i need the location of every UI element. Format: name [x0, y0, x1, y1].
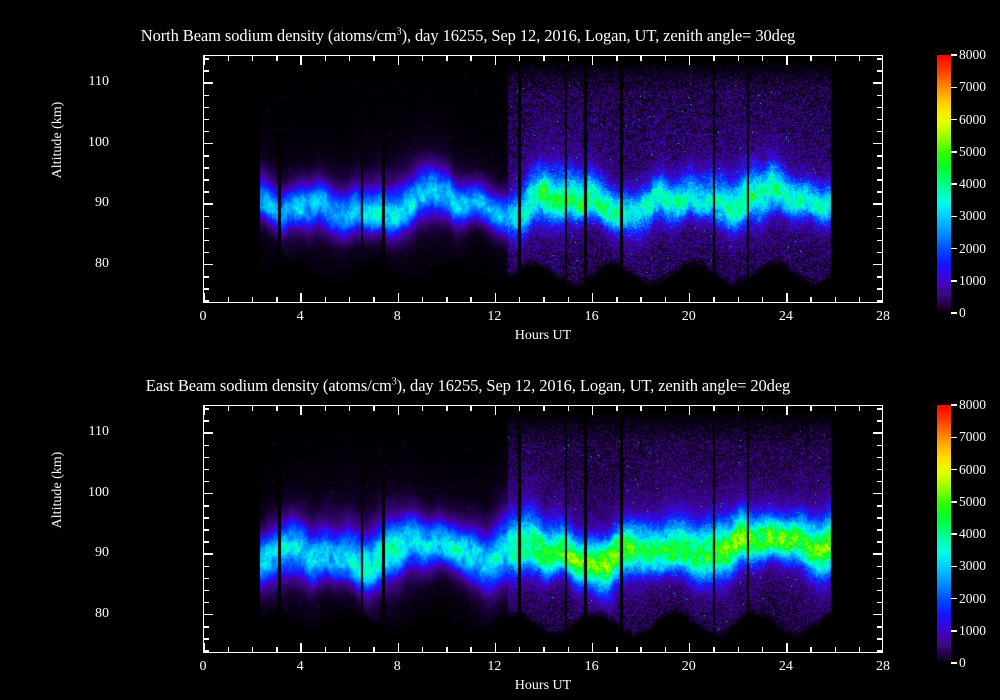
x-minor-tick: [762, 297, 764, 302]
x-minor-tick: [228, 647, 230, 652]
x-minor-tick: [713, 56, 715, 61]
colorbar-tick-label: 7000: [959, 429, 986, 445]
x-minor-tick: [762, 647, 764, 652]
x-minor-tick: [762, 56, 764, 61]
colorbar-tick: [951, 662, 957, 664]
x-major-tick: [398, 56, 400, 65]
x-minor-tick: [543, 406, 545, 411]
y-minor-tick: [877, 469, 882, 471]
y-major-tick: [204, 143, 213, 145]
x-major-tick: [592, 293, 594, 302]
panel-east-title: East Beam sodium density (atoms/cm3), da…: [0, 376, 936, 398]
x-minor-tick: [713, 647, 715, 652]
y-minor-tick: [204, 505, 209, 507]
y-minor-tick: [877, 119, 882, 121]
x-major-tick: [689, 56, 691, 65]
y-minor-tick: [204, 155, 209, 157]
north-heatmap-surface: [204, 56, 882, 302]
y-minor-tick: [204, 650, 209, 652]
x-minor-tick: [252, 56, 254, 61]
x-minor-tick: [325, 297, 327, 302]
x-tick-label: 16: [562, 309, 622, 325]
panel-north-beam: North Beam sodium density (atoms/cm3), d…: [0, 0, 1000, 350]
x-minor-tick: [665, 406, 667, 411]
y-minor-tick: [204, 167, 209, 169]
y-major-tick: [873, 203, 882, 205]
y-minor-tick: [204, 240, 209, 242]
y-minor-tick: [204, 541, 209, 543]
x-minor-tick: [349, 56, 351, 61]
x-minor-tick: [422, 56, 424, 61]
y-minor-tick: [877, 107, 882, 109]
y-minor-tick: [204, 602, 209, 604]
y-major-tick: [873, 432, 882, 434]
colorbar-tick-label: 1000: [959, 273, 986, 289]
east-heatmap-surface: [204, 406, 882, 652]
y-minor-tick: [204, 445, 209, 447]
y-minor-tick: [877, 408, 882, 410]
y-minor-tick: [204, 228, 209, 230]
y-tick-label: 80: [49, 256, 109, 272]
y-tick-label: 110: [49, 424, 109, 440]
y-minor-tick: [204, 457, 209, 459]
y-tick-label: 90: [49, 195, 109, 211]
x-minor-tick: [276, 297, 278, 302]
colorbar-tick-label: 1000: [959, 623, 986, 639]
x-minor-tick: [228, 56, 230, 61]
y-minor-tick: [877, 481, 882, 483]
x-minor-tick: [616, 297, 618, 302]
x-minor-tick: [276, 406, 278, 411]
x-minor-tick: [276, 647, 278, 652]
colorbar-tick-label: 5000: [959, 494, 986, 510]
y-minor-tick: [204, 58, 209, 60]
x-minor-tick: [859, 297, 861, 302]
colorbar-tick: [951, 630, 957, 632]
x-minor-tick: [713, 297, 715, 302]
y-major-tick: [204, 432, 213, 434]
x-minor-tick: [810, 56, 812, 61]
x-major-tick: [592, 643, 594, 652]
x-major-tick: [592, 56, 594, 65]
panel-north-title-rest: ), day 16255, Sep 12, 2016, Logan, UT, z…: [402, 26, 796, 45]
x-tick-label: 8: [367, 309, 427, 325]
x-major-tick: [689, 406, 691, 415]
colorbar-tick-label: 8000: [959, 397, 986, 413]
x-major-tick: [300, 56, 302, 65]
panel-east-title-rest: ), day 16255, Sep 12, 2016, Logan, UT, z…: [397, 376, 791, 395]
x-minor-tick: [665, 297, 667, 302]
y-minor-tick: [204, 252, 209, 254]
colorbar-tick: [951, 119, 957, 121]
x-minor-tick: [470, 56, 472, 61]
x-minor-tick: [762, 406, 764, 411]
y-major-tick: [873, 553, 882, 555]
colorbar-tick: [951, 151, 957, 153]
y-minor-tick: [204, 119, 209, 121]
x-minor-tick: [713, 406, 715, 411]
x-minor-tick: [519, 647, 521, 652]
x-tick-label: 28: [853, 659, 913, 675]
x-minor-tick: [810, 647, 812, 652]
x-major-tick: [203, 643, 205, 652]
y-minor-tick: [877, 240, 882, 242]
y-major-tick: [204, 264, 213, 266]
y-minor-tick: [204, 216, 209, 218]
y-minor-tick: [877, 131, 882, 133]
x-major-tick: [398, 643, 400, 652]
x-minor-tick: [738, 406, 740, 411]
x-minor-tick: [616, 406, 618, 411]
north-heatmap-canvas: [204, 56, 882, 302]
y-minor-tick: [204, 529, 209, 531]
colorbar-tick-label: 5000: [959, 144, 986, 160]
y-minor-tick: [877, 650, 882, 652]
x-minor-tick: [349, 647, 351, 652]
x-tick-label: 4: [270, 309, 330, 325]
y-minor-tick: [877, 457, 882, 459]
y-minor-tick: [877, 179, 882, 181]
x-tick-label: 12: [464, 309, 524, 325]
y-minor-tick: [204, 481, 209, 483]
y-tick-label: 90: [49, 545, 109, 561]
y-major-tick: [873, 82, 882, 84]
y-minor-tick: [204, 638, 209, 640]
x-major-tick: [495, 56, 497, 65]
x-major-tick: [689, 643, 691, 652]
x-tick-label: 28: [853, 309, 913, 325]
x-tick-label: 20: [659, 659, 719, 675]
north-colorbar-gradient: [937, 55, 951, 313]
y-minor-tick: [877, 541, 882, 543]
x-minor-tick: [543, 56, 545, 61]
x-minor-tick: [543, 297, 545, 302]
x-minor-tick: [325, 406, 327, 411]
x-tick-label: 12: [464, 659, 524, 675]
x-minor-tick: [519, 297, 521, 302]
y-major-tick: [873, 614, 882, 616]
y-minor-tick: [877, 566, 882, 568]
x-major-tick: [203, 293, 205, 302]
x-major-tick: [786, 293, 788, 302]
y-minor-tick: [877, 191, 882, 193]
y-minor-tick: [204, 70, 209, 72]
east-colorbar: [937, 405, 951, 663]
y-minor-tick: [877, 529, 882, 531]
x-major-tick: [203, 406, 205, 415]
x-minor-tick: [859, 647, 861, 652]
figure-canvas: North Beam sodium density (atoms/cm3), d…: [0, 0, 1000, 700]
y-minor-tick: [204, 95, 209, 97]
colorbar-tick: [951, 598, 957, 600]
x-tick-label: 0: [173, 659, 233, 675]
panel-east-beam: East Beam sodium density (atoms/cm3), da…: [0, 350, 1000, 700]
x-major-tick: [300, 406, 302, 415]
colorbar-tick: [951, 501, 957, 503]
x-minor-tick: [470, 406, 472, 411]
colorbar-tick: [951, 533, 957, 535]
y-minor-tick: [877, 228, 882, 230]
colorbar-tick: [951, 216, 957, 218]
y-minor-tick: [204, 469, 209, 471]
x-minor-tick: [835, 647, 837, 652]
x-minor-tick: [543, 647, 545, 652]
y-tick-label: 100: [49, 485, 109, 501]
x-minor-tick: [738, 297, 740, 302]
y-minor-tick: [877, 70, 882, 72]
x-tick-label: 8: [367, 659, 427, 675]
x-minor-tick: [665, 647, 667, 652]
y-major-tick: [204, 614, 213, 616]
x-minor-tick: [616, 56, 618, 61]
y-minor-tick: [204, 517, 209, 519]
y-minor-tick: [877, 626, 882, 628]
east-heatmap-canvas: [204, 406, 882, 652]
panel-north-title: North Beam sodium density (atoms/cm3), d…: [0, 26, 936, 48]
x-minor-tick: [276, 56, 278, 61]
colorbar-tick: [951, 404, 957, 406]
x-tick-label: 24: [756, 659, 816, 675]
y-major-tick: [873, 143, 882, 145]
y-major-tick: [204, 553, 213, 555]
x-major-tick: [786, 56, 788, 65]
north-colorbar: [937, 55, 951, 313]
x-minor-tick: [373, 297, 375, 302]
y-minor-tick: [877, 252, 882, 254]
y-minor-tick: [877, 276, 882, 278]
x-minor-tick: [568, 297, 570, 302]
y-minor-tick: [204, 179, 209, 181]
x-minor-tick: [325, 647, 327, 652]
x-minor-tick: [252, 406, 254, 411]
north-plot-frame: [203, 55, 883, 303]
colorbar-tick-label: 7000: [959, 79, 986, 95]
x-minor-tick: [446, 406, 448, 411]
x-minor-tick: [228, 297, 230, 302]
y-minor-tick: [877, 505, 882, 507]
y-major-tick: [204, 493, 213, 495]
colorbar-tick-label: 2000: [959, 591, 986, 607]
x-tick-label: 4: [270, 659, 330, 675]
y-minor-tick: [877, 58, 882, 60]
y-minor-tick: [204, 131, 209, 133]
x-minor-tick: [252, 647, 254, 652]
y-minor-tick: [204, 300, 209, 302]
colorbar-tick-label: 6000: [959, 112, 986, 128]
east-plot-frame: [203, 405, 883, 653]
x-minor-tick: [470, 647, 472, 652]
colorbar-tick: [951, 87, 957, 89]
y-minor-tick: [877, 638, 882, 640]
x-major-tick: [786, 406, 788, 415]
x-minor-tick: [228, 406, 230, 411]
colorbar-tick-label: 6000: [959, 462, 986, 478]
x-minor-tick: [373, 406, 375, 411]
colorbar-tick: [951, 248, 957, 250]
y-minor-tick: [877, 167, 882, 169]
y-minor-tick: [204, 408, 209, 410]
colorbar-tick-label: 0: [959, 655, 966, 671]
y-minor-tick: [877, 300, 882, 302]
y-major-tick: [204, 203, 213, 205]
y-minor-tick: [204, 626, 209, 628]
colorbar-tick-label: 4000: [959, 526, 986, 542]
x-minor-tick: [640, 647, 642, 652]
y-minor-tick: [877, 420, 882, 422]
x-major-tick: [398, 406, 400, 415]
colorbar-tick: [951, 54, 957, 56]
x-major-tick: [300, 643, 302, 652]
y-major-tick: [873, 264, 882, 266]
y-minor-tick: [877, 445, 882, 447]
x-minor-tick: [422, 647, 424, 652]
east-colorbar-gradient: [937, 405, 951, 663]
x-minor-tick: [519, 56, 521, 61]
x-minor-tick: [373, 56, 375, 61]
x-minor-tick: [446, 297, 448, 302]
east-x-axis-title: Hours UT: [203, 678, 883, 694]
colorbar-tick-label: 3000: [959, 558, 986, 574]
x-minor-tick: [422, 406, 424, 411]
colorbar-tick-label: 8000: [959, 47, 986, 63]
x-minor-tick: [325, 56, 327, 61]
x-minor-tick: [640, 56, 642, 61]
y-minor-tick: [877, 590, 882, 592]
y-minor-tick: [204, 590, 209, 592]
colorbar-tick: [951, 280, 957, 282]
x-tick-label: 0: [173, 309, 233, 325]
y-tick-label: 100: [49, 135, 109, 151]
colorbar-tick-label: 4000: [959, 176, 986, 192]
colorbar-tick: [951, 469, 957, 471]
x-minor-tick: [446, 647, 448, 652]
x-major-tick: [689, 293, 691, 302]
x-minor-tick: [640, 406, 642, 411]
x-minor-tick: [349, 297, 351, 302]
y-minor-tick: [877, 517, 882, 519]
x-major-tick: [203, 56, 205, 65]
y-minor-tick: [204, 578, 209, 580]
x-minor-tick: [422, 297, 424, 302]
panel-east-title-main: East Beam sodium density (atoms/cm: [146, 376, 392, 395]
panel-north-title-main: North Beam sodium density (atoms/cm: [141, 26, 397, 45]
y-minor-tick: [877, 216, 882, 218]
x-major-tick: [495, 293, 497, 302]
y-minor-tick: [877, 288, 882, 290]
y-minor-tick: [204, 276, 209, 278]
y-tick-label: 80: [49, 606, 109, 622]
x-minor-tick: [859, 56, 861, 61]
y-minor-tick: [204, 107, 209, 109]
x-minor-tick: [835, 297, 837, 302]
x-major-tick: [592, 406, 594, 415]
x-minor-tick: [446, 56, 448, 61]
x-minor-tick: [349, 406, 351, 411]
x-minor-tick: [519, 406, 521, 411]
y-minor-tick: [877, 155, 882, 157]
x-major-tick: [786, 643, 788, 652]
x-minor-tick: [835, 56, 837, 61]
colorbar-tick: [951, 437, 957, 439]
colorbar-tick-label: 0: [959, 305, 966, 321]
y-minor-tick: [204, 566, 209, 568]
x-major-tick: [300, 293, 302, 302]
x-minor-tick: [835, 406, 837, 411]
x-minor-tick: [859, 406, 861, 411]
x-tick-label: 24: [756, 309, 816, 325]
x-minor-tick: [738, 647, 740, 652]
x-minor-tick: [373, 647, 375, 652]
x-minor-tick: [665, 56, 667, 61]
x-minor-tick: [810, 406, 812, 411]
colorbar-tick-label: 3000: [959, 208, 986, 224]
north-x-axis-title: Hours UT: [203, 328, 883, 344]
x-minor-tick: [616, 647, 618, 652]
x-minor-tick: [470, 297, 472, 302]
y-major-tick: [873, 493, 882, 495]
x-minor-tick: [568, 406, 570, 411]
y-minor-tick: [204, 288, 209, 290]
x-minor-tick: [738, 56, 740, 61]
x-major-tick: [495, 643, 497, 652]
x-major-tick: [495, 406, 497, 415]
x-minor-tick: [640, 297, 642, 302]
x-minor-tick: [568, 647, 570, 652]
colorbar-tick-label: 2000: [959, 241, 986, 257]
colorbar-tick: [951, 312, 957, 314]
y-minor-tick: [877, 95, 882, 97]
colorbar-tick: [951, 183, 957, 185]
x-minor-tick: [810, 297, 812, 302]
colorbar-tick: [951, 566, 957, 568]
y-minor-tick: [877, 602, 882, 604]
x-minor-tick: [568, 56, 570, 61]
y-minor-tick: [877, 578, 882, 580]
x-tick-label: 16: [562, 659, 622, 675]
y-tick-label: 110: [49, 74, 109, 90]
x-tick-label: 20: [659, 309, 719, 325]
x-major-tick: [398, 293, 400, 302]
y-major-tick: [204, 82, 213, 84]
x-minor-tick: [252, 297, 254, 302]
y-minor-tick: [204, 191, 209, 193]
y-minor-tick: [204, 420, 209, 422]
